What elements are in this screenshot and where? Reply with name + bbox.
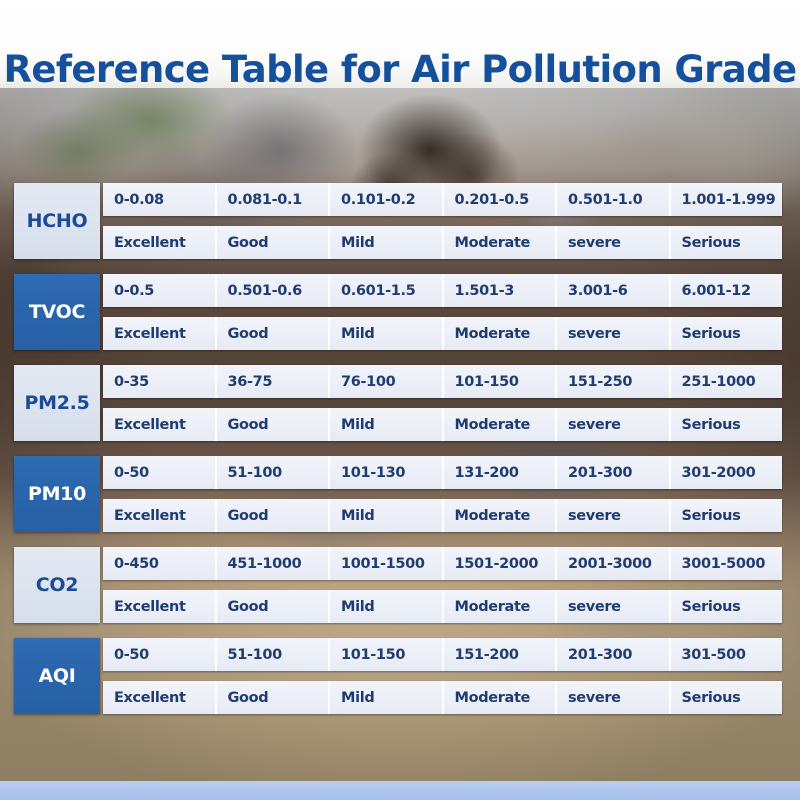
range-cell: 131-200 <box>444 456 558 489</box>
row-label-pm25: PM2.5 <box>14 365 100 441</box>
table-row: TVOC 0-0.5 0.501-0.6 0.601-1.5 1.501-3 3… <box>14 274 782 350</box>
grade-cell: severe <box>557 408 671 441</box>
range-cell: 0-0.5 <box>103 274 217 307</box>
grade-cell: Moderate <box>444 681 558 714</box>
grade-line: Excellent Good Mild Moderate severe Seri… <box>103 408 782 441</box>
table-row: CO2 0-450 451-1000 1001-1500 1501-2000 2… <box>14 547 782 623</box>
range-cell: 0-35 <box>103 365 217 398</box>
row-label-aqi: AQI <box>14 638 100 714</box>
range-cell: 1001-1500 <box>330 547 444 580</box>
range-cell: 201-300 <box>557 638 671 671</box>
grade-line: Excellent Good Mild Moderate severe Seri… <box>103 317 782 350</box>
range-cell: 0-0.08 <box>103 183 217 216</box>
row-label-tvoc: TVOC <box>14 274 100 350</box>
range-cell: 251-1000 <box>671 365 783 398</box>
range-line: 0-35 36-75 76-100 101-150 151-250 251-10… <box>103 365 782 398</box>
grade-cell: Serious <box>671 590 783 623</box>
range-cell: 0.201-0.5 <box>444 183 558 216</box>
range-cell: 6.001-12 <box>671 274 783 307</box>
grade-cell: Excellent <box>103 681 217 714</box>
grade-cell: Excellent <box>103 226 217 259</box>
row-cells-hcho: 0-0.08 0.081-0.1 0.101-0.2 0.201-0.5 0.5… <box>100 183 782 259</box>
range-cell: 151-250 <box>557 365 671 398</box>
grade-cell: severe <box>557 499 671 532</box>
row-cells-aqi: 0-50 51-100 101-150 151-200 201-300 301-… <box>100 638 782 714</box>
range-line: 0-450 451-1000 1001-1500 1501-2000 2001-… <box>103 547 782 580</box>
grade-cell: Mild <box>330 408 444 441</box>
range-cell: 51-100 <box>217 638 331 671</box>
row-label-hcho: HCHO <box>14 183 100 259</box>
range-cell: 2001-3000 <box>557 547 671 580</box>
range-cell: 51-100 <box>217 456 331 489</box>
grade-cell: Good <box>217 681 331 714</box>
range-line: 0-0.08 0.081-0.1 0.101-0.2 0.201-0.5 0.5… <box>103 183 782 216</box>
range-cell: 0.601-1.5 <box>330 274 444 307</box>
row-cells-tvoc: 0-0.5 0.501-0.6 0.601-1.5 1.501-3 3.001-… <box>100 274 782 350</box>
grade-cell: Serious <box>671 317 783 350</box>
grade-cell: Mild <box>330 681 444 714</box>
grade-cell: Moderate <box>444 408 558 441</box>
row-cells-pm25: 0-35 36-75 76-100 101-150 151-250 251-10… <box>100 365 782 441</box>
grade-cell: Serious <box>671 499 783 532</box>
page-title: Reference Table for Air Pollution Grade <box>0 25 800 113</box>
row-label-co2: CO2 <box>14 547 100 623</box>
grade-line: Excellent Good Mild Moderate severe Seri… <box>103 681 782 714</box>
grade-cell: Moderate <box>444 226 558 259</box>
range-cell: 1501-2000 <box>444 547 558 580</box>
range-cell: 0-50 <box>103 638 217 671</box>
page-root: Reference Table for Air Pollution Grade … <box>0 0 800 800</box>
range-line: 0-50 51-100 101-130 131-200 201-300 301-… <box>103 456 782 489</box>
range-cell: 0-450 <box>103 547 217 580</box>
range-cell: 3001-5000 <box>671 547 783 580</box>
range-cell: 101-150 <box>330 638 444 671</box>
table-row: PM2.5 0-35 36-75 76-100 101-150 151-250 … <box>14 365 782 441</box>
table-row: PM10 0-50 51-100 101-130 131-200 201-300… <box>14 456 782 532</box>
row-cells-pm10: 0-50 51-100 101-130 131-200 201-300 301-… <box>100 456 782 532</box>
range-cell: 1.501-3 <box>444 274 558 307</box>
grade-cell: Good <box>217 590 331 623</box>
range-cell: 0.501-0.6 <box>217 274 331 307</box>
grade-cell: Moderate <box>444 317 558 350</box>
table-row: HCHO 0-0.08 0.081-0.1 0.101-0.2 0.201-0.… <box>14 183 782 259</box>
row-label-pm10: PM10 <box>14 456 100 532</box>
bottom-accent-strip <box>0 781 800 800</box>
range-cell: 36-75 <box>217 365 331 398</box>
grade-cell: Serious <box>671 681 783 714</box>
grade-cell: Mild <box>330 499 444 532</box>
row-cells-co2: 0-450 451-1000 1001-1500 1501-2000 2001-… <box>100 547 782 623</box>
range-cell: 201-300 <box>557 456 671 489</box>
grade-cell: Serious <box>671 408 783 441</box>
grade-cell: Good <box>217 408 331 441</box>
air-pollution-grade-table: HCHO 0-0.08 0.081-0.1 0.101-0.2 0.201-0.… <box>14 183 782 714</box>
range-cell: 1.001-1.999 <box>671 183 783 216</box>
range-cell: 3.001-6 <box>557 274 671 307</box>
grade-cell: Moderate <box>444 590 558 623</box>
grade-cell: Excellent <box>103 499 217 532</box>
grade-line: Excellent Good Mild Moderate severe Seri… <box>103 590 782 623</box>
range-cell: 0.101-0.2 <box>330 183 444 216</box>
range-line: 0-50 51-100 101-150 151-200 201-300 301-… <box>103 638 782 671</box>
grade-cell: Good <box>217 499 331 532</box>
table-row: AQI 0-50 51-100 101-150 151-200 201-300 … <box>14 638 782 714</box>
range-cell: 151-200 <box>444 638 558 671</box>
grade-cell: Excellent <box>103 590 217 623</box>
grade-line: Excellent Good Mild Moderate severe Seri… <box>103 226 782 259</box>
grade-cell: severe <box>557 681 671 714</box>
range-cell: 301-2000 <box>671 456 783 489</box>
range-cell: 0-50 <box>103 456 217 489</box>
range-cell: 0.081-0.1 <box>217 183 331 216</box>
grade-cell: Moderate <box>444 499 558 532</box>
range-cell: 101-130 <box>330 456 444 489</box>
grade-cell: Excellent <box>103 317 217 350</box>
range-line: 0-0.5 0.501-0.6 0.601-1.5 1.501-3 3.001-… <box>103 274 782 307</box>
grade-cell: Good <box>217 317 331 350</box>
grade-line: Excellent Good Mild Moderate severe Seri… <box>103 499 782 532</box>
grade-cell: severe <box>557 226 671 259</box>
range-cell: 451-1000 <box>217 547 331 580</box>
grade-cell: Good <box>217 226 331 259</box>
grade-cell: Mild <box>330 317 444 350</box>
range-cell: 301-500 <box>671 638 783 671</box>
grade-cell: Excellent <box>103 408 217 441</box>
grade-cell: Serious <box>671 226 783 259</box>
grade-cell: Mild <box>330 226 444 259</box>
range-cell: 101-150 <box>444 365 558 398</box>
range-cell: 0.501-1.0 <box>557 183 671 216</box>
range-cell: 76-100 <box>330 365 444 398</box>
grade-cell: severe <box>557 590 671 623</box>
grade-cell: severe <box>557 317 671 350</box>
grade-cell: Mild <box>330 590 444 623</box>
